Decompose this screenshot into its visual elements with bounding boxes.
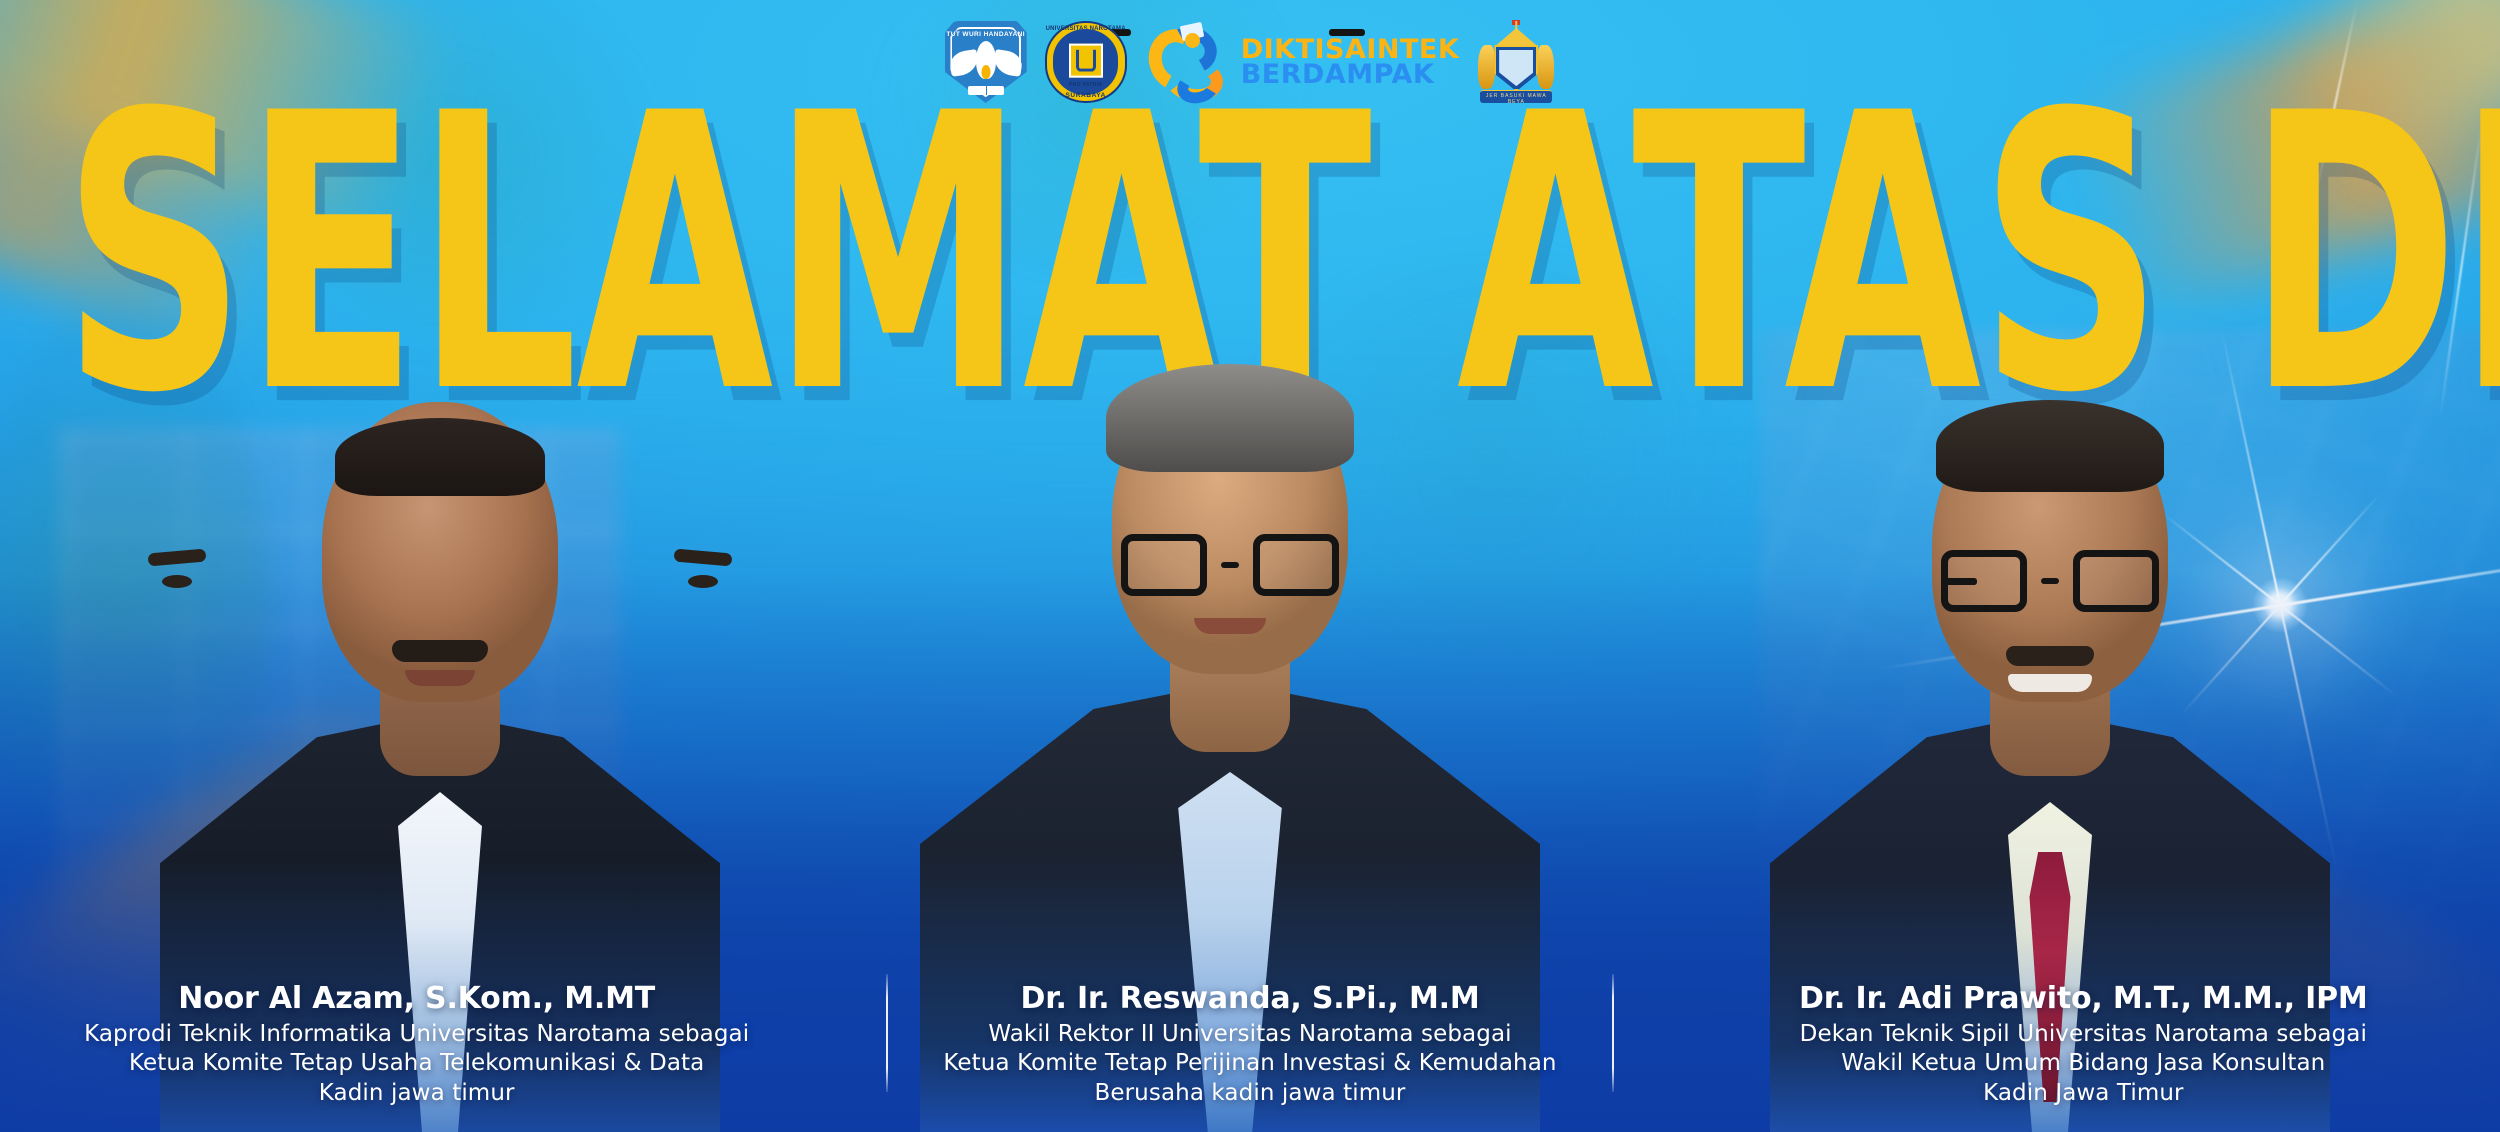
person-role-line-1: Dekan Teknik Sipil Universitas Narotama … — [1667, 1020, 2500, 1049]
caption-person-left: Noor Al Azam, S.Kom., M.MT Kaprodi Tekni… — [0, 982, 833, 1108]
narotama-motto-text: PRO PATRIA — [1069, 82, 1102, 88]
universitas-narotama-logo: UNIVERSITAS NAROTAMA PRO PATRIA SURABAYA — [1045, 21, 1127, 103]
caption-person-middle: Dr. Ir. Reswanda, S.Pi., M.M Wakil Rekto… — [833, 982, 1666, 1108]
caption-row: Noor Al Azam, S.Kom., M.MT Kaprodi Tekni… — [0, 982, 2500, 1108]
person-role-line-3: Kadin jawa timur — [0, 1079, 833, 1108]
person-role-line-3: Berusaha kadin jawa timur — [833, 1079, 1666, 1108]
person-name: Noor Al Azam, S.Kom., M.MT — [0, 982, 833, 1017]
caption-divider-2 — [1612, 974, 1614, 1092]
caption-person-right: Dr. Ir. Adi Prawito, M.T., M.M., IPM Dek… — [1667, 982, 2500, 1108]
diktisaintek-mark-icon — [1145, 21, 1231, 103]
tut-wuri-arc-text: TUT WURI HANDAYANI — [946, 31, 1025, 38]
logo-bar: TUT WURI HANDAYANI UNIVERSITAS NAROTAMA … — [0, 18, 2500, 106]
jawa-timur-emblem-logo: JER BASUKI MAWA BEYA — [1477, 19, 1555, 105]
congratulations-poster: SELAMAT ATAS DILANTIKNYA TUT WURI HANDAY… — [0, 0, 2500, 1132]
diktisaintek-wordmark-line2: BERDAMPAK — [1241, 62, 1460, 87]
caption-divider-1 — [886, 974, 888, 1092]
glasses-icon — [1121, 534, 1339, 596]
person-role-line-2: Ketua Komite Tetap Usaha Telekomunikasi … — [0, 1049, 833, 1078]
person-role-line-1: Kaprodi Teknik Informatika Universitas N… — [0, 1020, 833, 1049]
glasses-icon — [1941, 550, 2159, 612]
narotama-arc-bottom-text: SURABAYA — [1065, 92, 1105, 99]
jawa-timur-ribbon-text: JER BASUKI MAWA BEYA — [1480, 93, 1552, 105]
person-role-line-2: Wakil Ketua Umum Bidang Jasa Konsultan — [1667, 1049, 2500, 1078]
diktisaintek-berdampak-logo: DIKTISAINTEK BERDAMPAK — [1145, 21, 1460, 103]
person-role-line-3: Kadin Jawa Timur — [1667, 1079, 2500, 1108]
person-role-line-2: Ketua Komite Tetap Perijinan Investasi &… — [833, 1049, 1666, 1078]
person-role-line-1: Wakil Rektor II Universitas Narotama seb… — [833, 1020, 1666, 1049]
tut-wuri-handayani-logo: TUT WURI HANDAYANI — [945, 21, 1027, 103]
person-name: Dr. Ir. Adi Prawito, M.T., M.M., IPM — [1667, 982, 2500, 1017]
person-name: Dr. Ir. Reswanda, S.Pi., M.M — [833, 982, 1666, 1017]
